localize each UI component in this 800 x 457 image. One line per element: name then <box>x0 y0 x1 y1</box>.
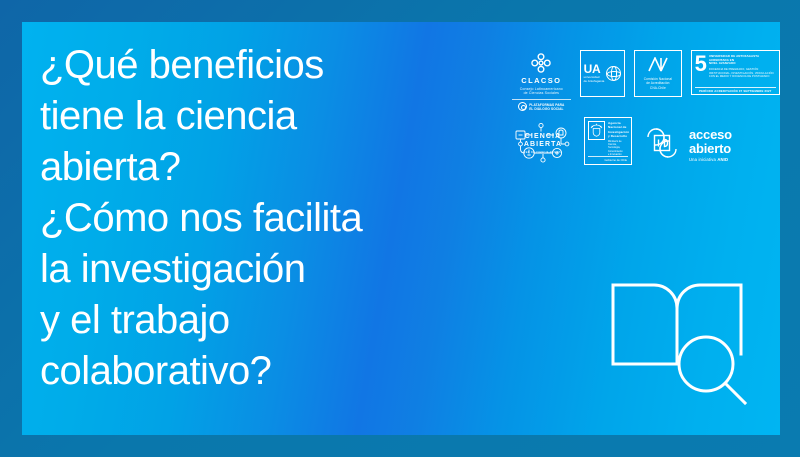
clacso-ring-icon <box>518 102 527 111</box>
clacso-knot-icon <box>512 52 571 74</box>
clacso-name: CLACSO <box>512 76 571 85</box>
logo-universidad-antofagasta: UA universidad de Antofagasta <box>580 50 626 97</box>
acceso-tagline: Una iniciativa ANID <box>689 156 732 163</box>
clacso-platform: PLATAFORMAS PARA EL DIÁLOGO SOCIAL <box>512 99 571 112</box>
ua-name: UA <box>584 63 605 75</box>
logo-cluster: CLACSO Consejo Latinoamericano de Cienci… <box>512 50 780 168</box>
logo-row-bottom: CIENCIA ABIERTA RED DE CIENCIA ABIERTA <box>512 117 780 168</box>
logo-clacso: CLACSO Consejo Latinoamericano de Cienci… <box>512 50 571 111</box>
logo-cna-chile: Comisión Nacional de Acreditación CNA-Ch… <box>634 50 681 97</box>
logo-ciencia-abierta: CIENCIA ABIERTA RED DE CIENCIA ABIERTA <box>512 117 574 165</box>
open-book-magnifier-icon <box>610 268 758 413</box>
globe-icon <box>606 66 621 81</box>
ciencia-line3: RED DE CIENCIA ABIERTA <box>512 151 574 154</box>
logo-acceso-abierto: acceso abierto Una iniciativa ANID <box>642 117 732 168</box>
chile-coat-of-arms-icon <box>588 121 605 140</box>
ciencia-line1: CIENCIA <box>512 133 574 141</box>
anid-title: Agencia Nacional de Investigación y Desa… <box>608 121 629 138</box>
acceso-line1: acceso <box>689 128 732 142</box>
ciencia-line2: ABIERTA <box>512 141 574 149</box>
clacso-platform-label: PLATAFORMAS PARA EL DIÁLOGO SOCIAL <box>529 103 564 111</box>
cna-text: Comisión Nacional de Acreditación CNA-Ch… <box>644 77 672 89</box>
ua-label: universidad de Antofagasta <box>584 76 605 83</box>
content-panel: ¿Qué beneficios tiene la ciencia abierta… <box>22 22 780 435</box>
accreditation-line1: UNIVERSIDAD DE ANTOFAGASTA ACREDITADA EN… <box>709 55 774 66</box>
clacso-subtitle: Consejo Latinoamericano de Ciencias Soci… <box>512 87 571 96</box>
accreditation-line2: DOCENCIA DE PREGRADO, GESTIÓN INSTITUCIO… <box>709 68 774 78</box>
acceso-line2: abierto <box>689 142 732 156</box>
accreditation-period: PERÍODO ACREDITACIÓN 07 SEPTIEMBRE 2027 <box>695 87 776 94</box>
open-access-id-icon <box>642 123 682 168</box>
anid-subtitle: Ministerio de Ciencia, Tecnología, Conoc… <box>608 140 629 156</box>
anid-government: Gobierno de Chile <box>588 156 628 164</box>
logo-anid: Agencia Nacional de Investigación y Desa… <box>584 117 632 165</box>
cna-chevron-icon <box>648 57 668 75</box>
acceso-tagline-brand: ANID <box>717 157 728 162</box>
logo-row-top: CLACSO Consejo Latinoamericano de Cienci… <box>512 50 780 111</box>
slide-canvas: ¿Qué beneficios tiene la ciencia abierta… <box>0 0 800 457</box>
accreditation-years: 5 <box>695 54 706 74</box>
acceso-tagline-prefix: Una iniciativa <box>689 157 717 162</box>
page-title: ¿Qué beneficios tiene la ciencia abierta… <box>40 40 470 397</box>
logo-accreditation: 5 UNIVERSIDAD DE ANTOFAGASTA ACREDITADA … <box>691 50 780 95</box>
